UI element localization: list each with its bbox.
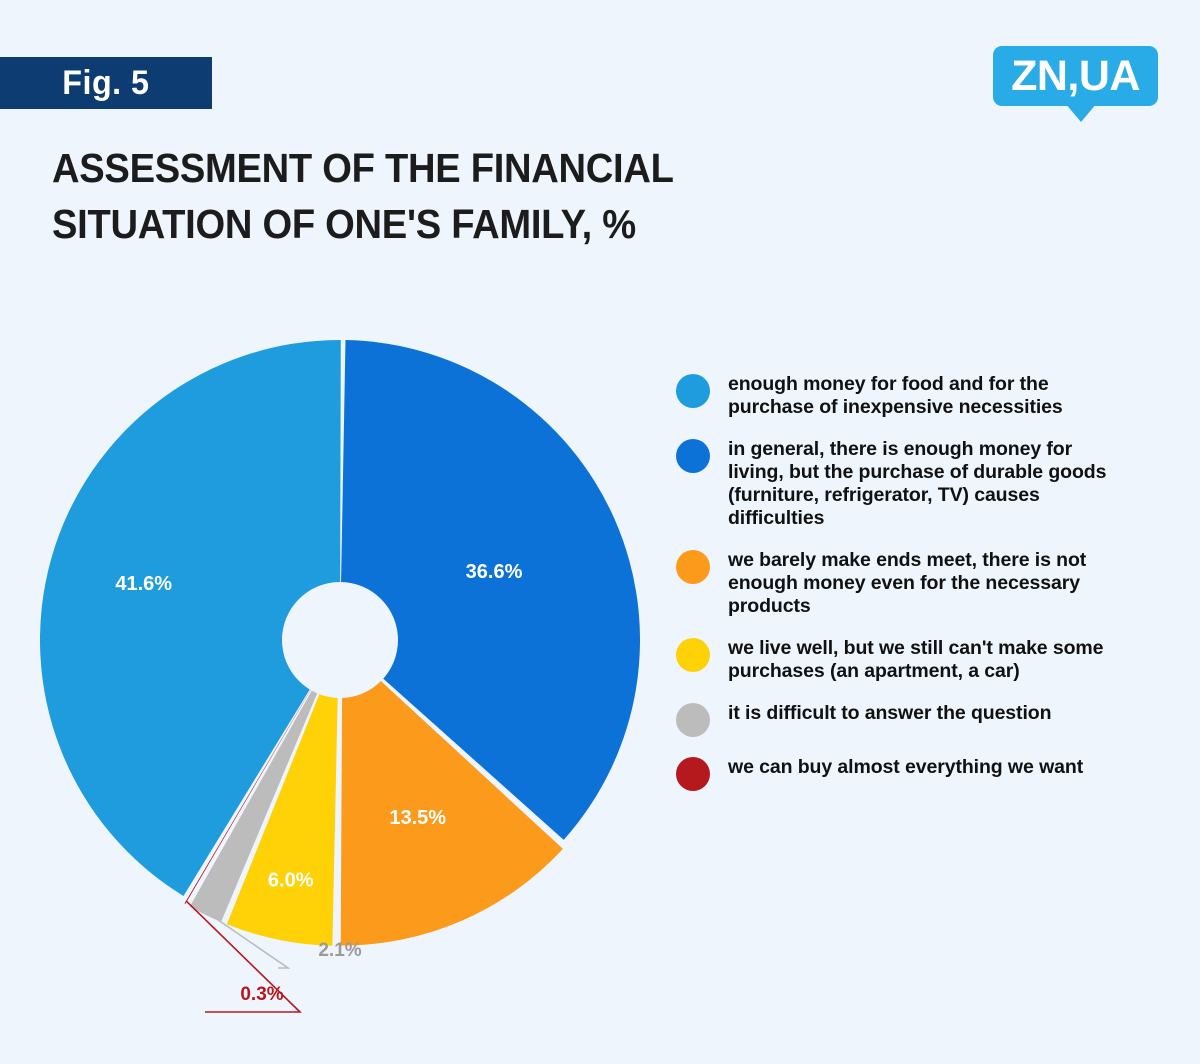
pie-chart: 2.1%0.3% 41.6%36.6%13.5%6.0% <box>0 300 680 1060</box>
pie-chart-svg: 2.1%0.3% 41.6%36.6%13.5%6.0% <box>0 300 680 1060</box>
legend-item[interactable]: it is difficult to answer the question <box>676 701 1176 737</box>
legend-color-swatch-icon <box>676 757 710 791</box>
pie-slice-value-label: 6.0% <box>268 869 314 891</box>
legend-item-label: in general, there is enough money forliv… <box>728 437 1106 530</box>
legend-item-label: we can buy almost everything we want <box>728 755 1083 779</box>
figure-badge: Fig. 5 <box>0 57 212 109</box>
legend-color-swatch-icon <box>676 439 710 473</box>
legend-item[interactable]: in general, there is enough money forliv… <box>676 437 1176 530</box>
pie-slice-value-label: 13.5% <box>389 807 446 829</box>
legend-item-label: it is difficult to answer the question <box>728 701 1051 725</box>
logo-text: ZN,UA <box>993 46 1158 106</box>
figure-badge-label: Fig. 5 <box>62 64 149 103</box>
legend-color-swatch-icon <box>676 638 710 672</box>
legend-item-label: we barely make ends meet, there is noten… <box>728 548 1086 618</box>
donut-hole <box>282 582 398 698</box>
legend-color-swatch-icon <box>676 703 710 737</box>
legend-item-label: enough money for food and for thepurchas… <box>728 372 1063 419</box>
legend-color-swatch-icon <box>676 374 710 408</box>
pie-slice-value-label: 36.6% <box>466 561 523 583</box>
legend-item[interactable]: enough money for food and for thepurchas… <box>676 372 1176 419</box>
legend-item[interactable]: we barely make ends meet, there is noten… <box>676 548 1176 618</box>
pie-callout-value-label: 0.3% <box>240 984 283 1005</box>
legend-item[interactable]: we can buy almost everything we want <box>676 755 1176 791</box>
legend-color-swatch-icon <box>676 550 710 584</box>
zn-ua-logo[interactable]: ZN,UA <box>993 46 1158 118</box>
chart-legend: enough money for food and for thepurchas… <box>676 372 1176 809</box>
pie-callout-value-label: 2.1% <box>318 940 361 961</box>
legend-item-label: we live well, but we still can't make so… <box>728 636 1103 683</box>
page-title: ASSESSMENT OF THE FINANCIAL SITUATION OF… <box>52 140 759 252</box>
legend-item[interactable]: we live well, but we still can't make so… <box>676 636 1176 683</box>
pie-slice-value-label: 41.6% <box>115 573 172 595</box>
